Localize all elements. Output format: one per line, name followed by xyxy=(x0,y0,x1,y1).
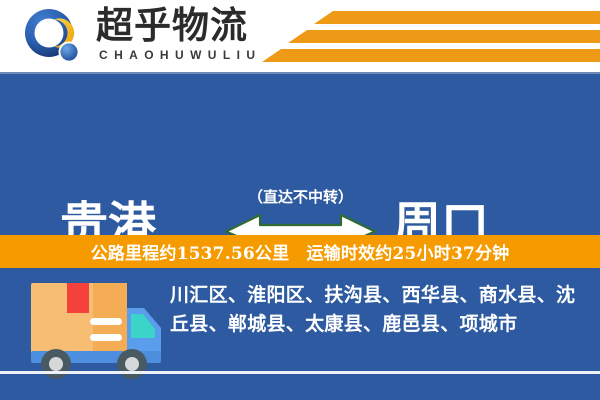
road-line-divider xyxy=(0,371,600,374)
logistics-route-banner: 超乎物流 CHAOHUWULIU 贵港 （直达不中转） 【往返运输】 周口 公路… xyxy=(0,0,600,400)
header-bar: 超乎物流 CHAOHUWULIU xyxy=(0,0,600,74)
decorative-stripe-3 xyxy=(281,49,600,62)
brand-name-cn: 超乎物流 xyxy=(96,4,248,48)
route-section: 贵港 （直达不中转） 【往返运输】 周口 xyxy=(0,74,600,235)
route-info-text: 公路里程约1537.56公里 运输时效约25小时37分钟 xyxy=(91,239,510,264)
coverage-areas-text: 川汇区、淮阳区、扶沟县、西华县、商水县、沈丘县、郸城县、太康县、鹿邑县、项城市 xyxy=(170,281,585,339)
delivery-truck-icon xyxy=(27,278,169,383)
circle-crescent-logo-icon xyxy=(22,7,82,67)
brand-name-en: CHAOHUWULIU xyxy=(99,48,261,62)
route-info-bar: 公路里程约1537.56公里 运输时效约25小时37分钟 xyxy=(0,235,600,268)
route-note-direct: （直达不中转） xyxy=(222,187,379,207)
decorative-stripe-1 xyxy=(333,11,600,24)
decorative-stripe-2 xyxy=(307,30,600,43)
